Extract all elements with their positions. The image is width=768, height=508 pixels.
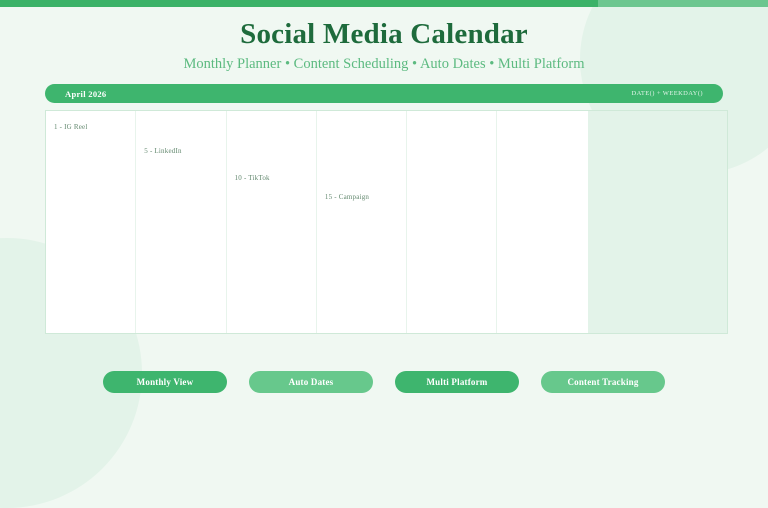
calendar-entry[interactable]: 10 - TikTok bbox=[235, 174, 270, 182]
calendar-entry[interactable]: 1 - IG Reel bbox=[54, 123, 88, 131]
page-root: Social Media Calendar Monthly Planner • … bbox=[0, 0, 768, 402]
calendar-entry[interactable]: 15 - Campaign bbox=[325, 193, 369, 201]
calendar-column[interactable]: 5 - LinkedIn bbox=[136, 111, 226, 333]
calendar-header-bar: April 2026 DATE() + WEEKDAY() bbox=[45, 84, 723, 103]
calendar-column[interactable]: 10 - TikTok bbox=[227, 111, 317, 333]
page-subtitle: Monthly Planner • Content Scheduling • A… bbox=[0, 56, 768, 73]
calendar-column[interactable] bbox=[407, 111, 497, 333]
calendar-formula-label: DATE() + WEEKDAY() bbox=[631, 90, 703, 97]
calendar-column[interactable]: 1 - IG Reel bbox=[46, 111, 136, 333]
calendar-month-label: April 2026 bbox=[65, 89, 107, 99]
footer-button-multi-platform[interactable]: Multi Platform bbox=[395, 371, 519, 393]
calendar-entry[interactable]: 5 - LinkedIn bbox=[144, 147, 181, 155]
calendar-column[interactable] bbox=[497, 111, 587, 333]
page-title: Social Media Calendar bbox=[0, 18, 768, 51]
footer-button-row: Monthly ViewAuto DatesMulti PlatformCont… bbox=[0, 371, 768, 393]
footer-button-monthly-view[interactable]: Monthly View bbox=[103, 371, 227, 393]
calendar-grid: 1 - IG Reel5 - LinkedIn10 - TikTok15 - C… bbox=[46, 111, 588, 333]
calendar-body: 1 - IG Reel5 - LinkedIn10 - TikTok15 - C… bbox=[45, 110, 728, 334]
calendar-column[interactable]: 15 - Campaign bbox=[317, 111, 407, 333]
footer-button-auto-dates[interactable]: Auto Dates bbox=[249, 371, 373, 393]
top-accent-bar-tint bbox=[598, 0, 768, 7]
footer-button-content-tracking[interactable]: Content Tracking bbox=[541, 371, 665, 393]
